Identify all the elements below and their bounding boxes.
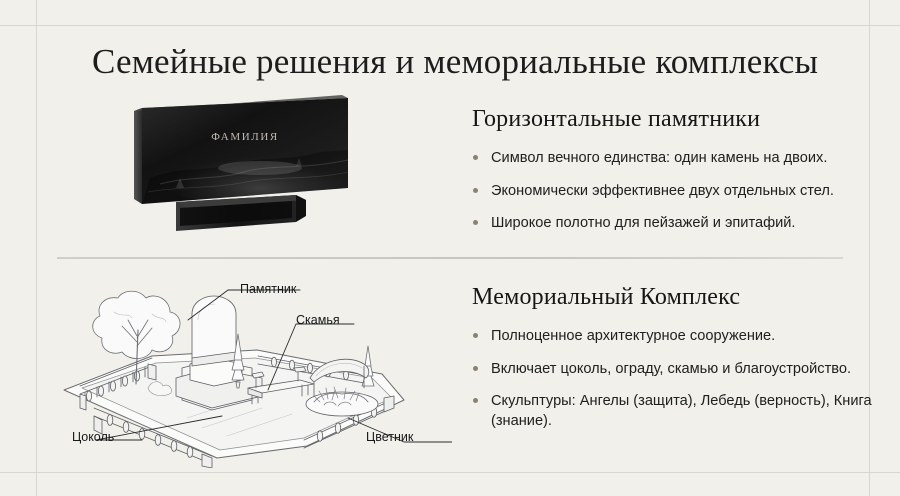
page-title: Семейные решения и мемориальные комплекс… <box>92 42 832 82</box>
monument-engraved-text: ФАМИЛИЯ <box>211 131 279 143</box>
page-guide-line-bottom <box>0 472 900 473</box>
list-item-text: Скульптуры: Ангелы (защита), Лебедь (вер… <box>491 393 872 429</box>
diagram-label-plinth: Цоколь <box>72 430 114 444</box>
list-item: Символ вечного единства: один камень на … <box>472 149 872 169</box>
section-bullet-list: Полноценное архитектурное сооружение. Вк… <box>472 327 872 431</box>
bullet-dot-icon <box>473 220 478 225</box>
section-divider <box>57 257 843 259</box>
slide-canvas: Семейные решения и мемориальные комплекс… <box>0 0 900 496</box>
horizontal-monument-photo: ФАМИЛИЯ <box>120 92 370 238</box>
diagram-label-monument: Памятник <box>240 282 296 296</box>
page-guide-line-left <box>36 0 37 496</box>
section-heading: Мемориальный Комплекс <box>472 284 872 311</box>
list-item: Широкое полотно для пейзажей и эпитафий. <box>472 214 872 234</box>
list-item-text: Включает цоколь, ограду, скамью и благоу… <box>491 361 851 377</box>
list-item: Экономически эффективнее двух отдельных … <box>472 182 872 202</box>
list-item: Включает цоколь, ограду, скамью и благоу… <box>472 360 872 380</box>
list-item: Скульптуры: Ангелы (защита), Лебедь (вер… <box>472 392 872 431</box>
diagram-label-flowerbed: Цветник <box>366 430 413 444</box>
page-guide-line-top <box>0 25 900 26</box>
section-bullet-list: Символ вечного единства: один камень на … <box>472 149 872 234</box>
list-item-text: Широкое полотно для пейзажей и эпитафий. <box>491 215 795 231</box>
bullet-dot-icon <box>473 398 478 403</box>
list-item: Полноценное архитектурное сооружение. <box>472 327 872 347</box>
list-item-text: Полноценное архитектурное сооружение. <box>491 328 775 344</box>
section-horizontal-monuments: Горизонтальные памятники Символ вечного … <box>472 106 872 247</box>
diagram-label-bench: Скамья <box>296 313 340 327</box>
section-memorial-complex: Мемориальный Комплекс Полноценное архите… <box>472 284 872 444</box>
bullet-dot-icon <box>473 155 478 160</box>
section-heading: Горизонтальные памятники <box>472 106 872 133</box>
list-item-text: Символ вечного единства: один камень на … <box>491 150 827 166</box>
bullet-dot-icon <box>473 188 478 193</box>
bullet-dot-icon <box>473 333 478 338</box>
list-item-text: Экономически эффективнее двух отдельных … <box>491 183 834 199</box>
bullet-dot-icon <box>473 366 478 371</box>
